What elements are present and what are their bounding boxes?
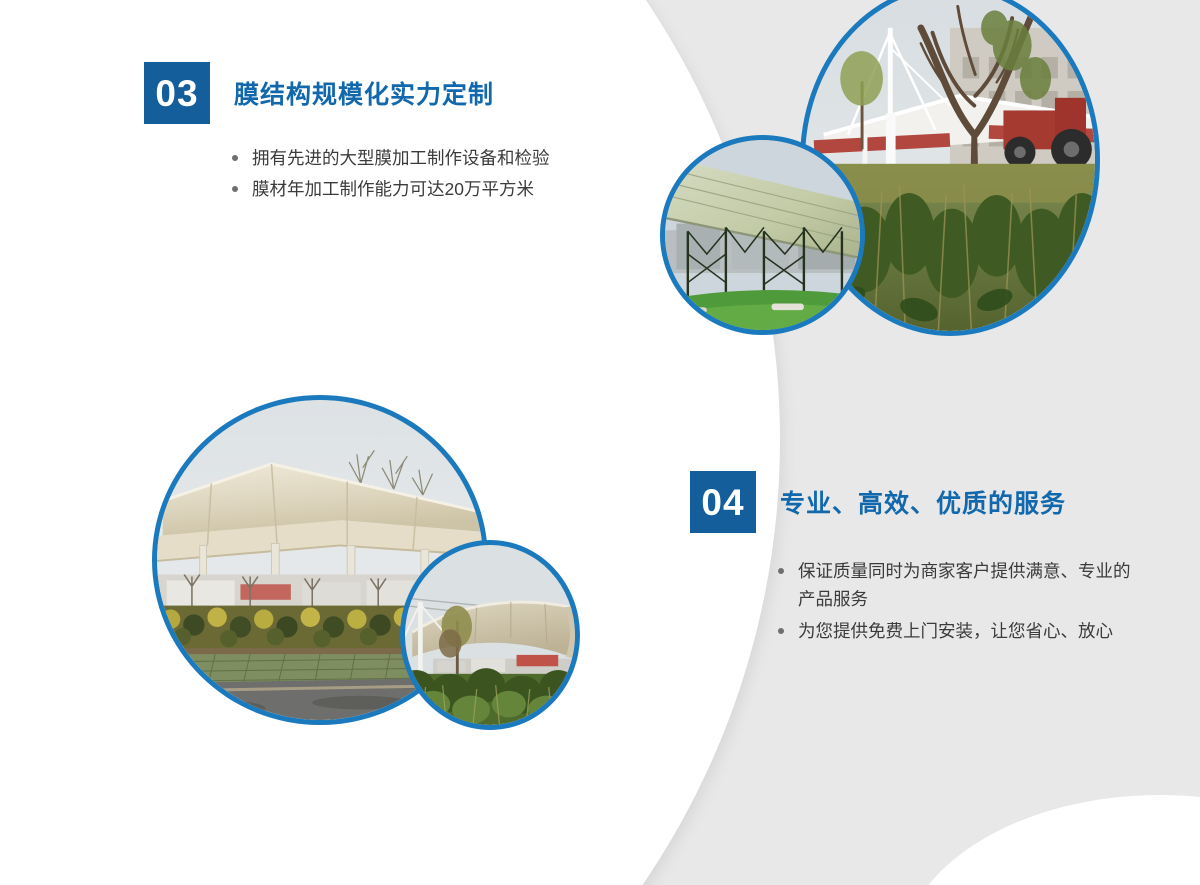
section-03-header: 03 膜结构规模化实力定制 — [144, 62, 646, 124]
photo-membrane-canopy-small-image — [665, 140, 860, 330]
slide-canvas: 03 膜结构规模化实力定制 拥有先进的大型膜加工制作设备和检验 膜材年加工制作能… — [0, 0, 1200, 885]
section-04-number-badge: 04 — [690, 471, 756, 533]
section-03-number-badge: 03 — [144, 62, 210, 124]
list-item: 拥有先进的大型膜加工制作设备和检验 — [226, 144, 646, 172]
section-03-title: 膜结构规模化实力定制 — [234, 75, 494, 111]
section-04: 04 专业、高效、优质的服务 保证质量同时为商家客户提供满意、专业的产品服务 为… — [690, 471, 1142, 648]
list-item: 保证质量同时为商家客户提供满意、专业的产品服务 — [772, 557, 1142, 614]
section-04-bullet-list: 保证质量同时为商家客户提供满意、专业的产品服务 为您提供免费上门安装，让您省心、… — [772, 557, 1142, 645]
section-03-bullet-list: 拥有先进的大型膜加工制作设备和检验 膜材年加工制作能力可达20万平方米 — [226, 144, 646, 204]
list-item: 为您提供免费上门安装，让您省心、放心 — [772, 617, 1142, 645]
list-item: 膜材年加工制作能力可达20万平方米 — [226, 175, 646, 203]
section-03: 03 膜结构规模化实力定制 拥有先进的大型膜加工制作设备和检验 膜材年加工制作能… — [144, 62, 646, 207]
section-04-header: 04 专业、高效、优质的服务 — [690, 471, 1142, 533]
photo-walkway-small — [400, 540, 580, 730]
section-04-title: 专业、高效、优质的服务 — [780, 484, 1066, 520]
photo-membrane-canopy-small — [660, 135, 865, 335]
photo-walkway-small-image — [405, 545, 575, 725]
